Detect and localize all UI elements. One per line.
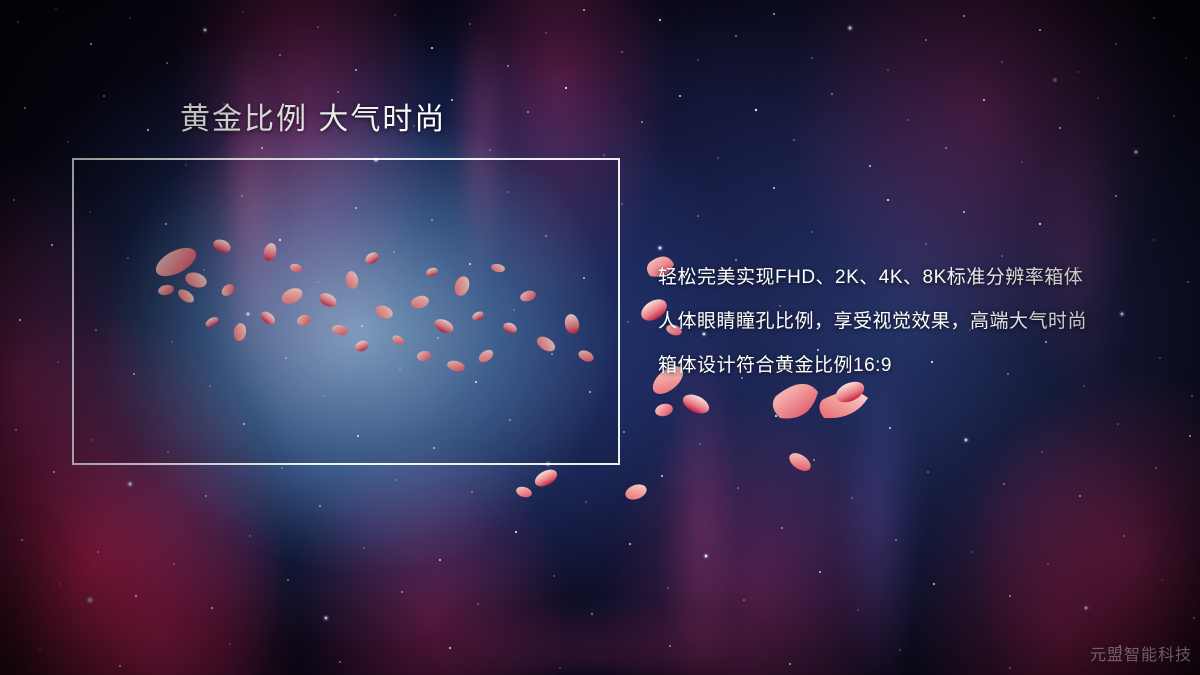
watermark: 元盟智能科技 — [1090, 641, 1192, 665]
vignette-overlay — [0, 0, 1200, 675]
slide-canvas: 黄金比例 大气时尚 轻松完美实现FHD、2K、4K、8K标准分辨率箱体 人体眼睛… — [0, 0, 1200, 675]
